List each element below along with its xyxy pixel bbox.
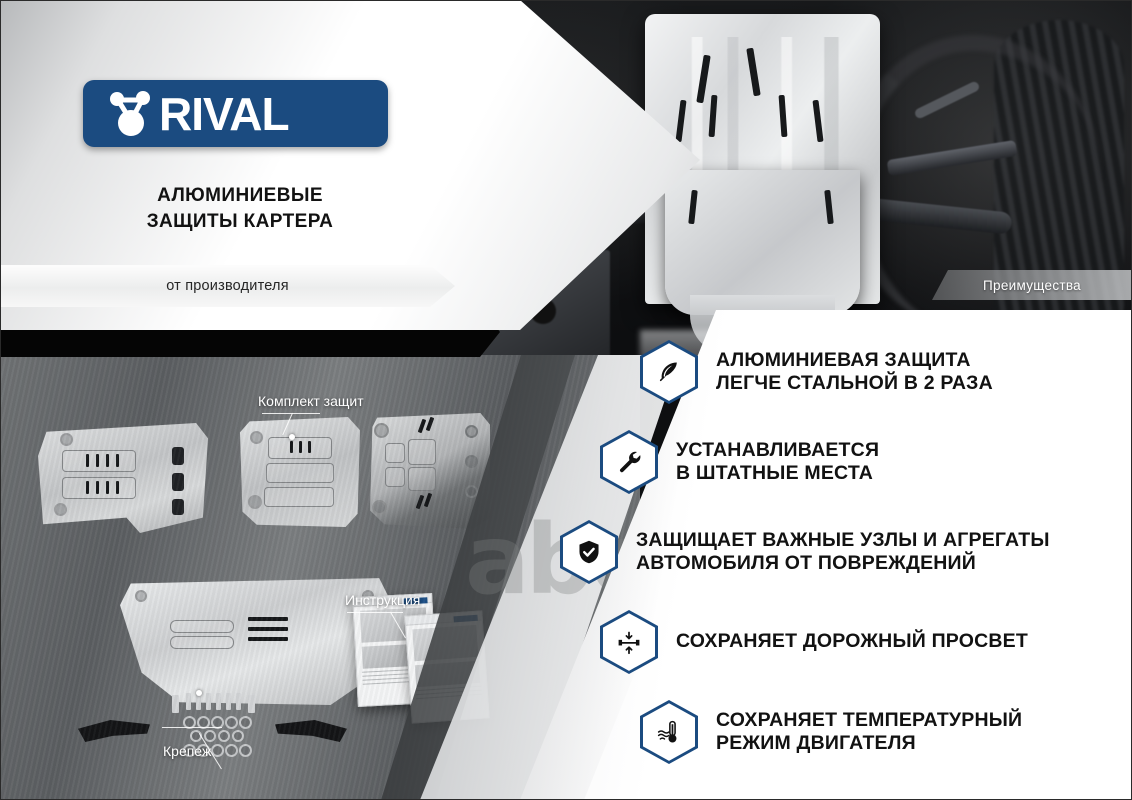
caption-marker <box>196 690 202 696</box>
plate-recess <box>62 477 136 499</box>
vent-slot <box>116 454 119 467</box>
plate-recess <box>408 467 436 491</box>
advantage-item-engine-temperature: СОХРАНЯЕТ ТЕМПЕРАТУРНЫЙ РЕЖИМ ДВИГАТЕЛЯ <box>640 700 1102 764</box>
advantage-line1: УСТАНАВЛИВАЕТСЯ <box>676 439 879 462</box>
drain-slot <box>172 473 184 491</box>
vent-slot <box>96 481 99 494</box>
page-title-line2: ЗАЩИТЫ КАРТЕРА <box>40 209 440 235</box>
advantage-text: СОХРАНЯЕТ ДОРОЖНЫЙ ПРОСВЕТ <box>676 630 1028 653</box>
washer <box>218 730 230 742</box>
advantage-line2: В ШТАТНЫЕ МЕСТА <box>676 462 879 485</box>
bolt <box>248 695 255 713</box>
vent-slot <box>426 417 435 432</box>
vent-slot <box>424 493 433 508</box>
advantage-item-factory-mounts: УСТАНАВЛИВАЕТСЯ В ШТАТНЫЕ МЕСТА <box>600 430 1102 494</box>
advantage-item-ground-clearance: СОХРАНЯЕТ ДОРОЖНЫЙ ПРОСВЕТ <box>600 610 1102 674</box>
bolt <box>236 693 241 710</box>
advantage-text: СОХРАНЯЕТ ТЕМПЕРАТУРНЫЙ РЕЖИМ ДВИГАТЕЛЯ <box>716 709 1022 756</box>
thermometer-icon <box>640 700 698 764</box>
vent-slot <box>106 481 109 494</box>
washer <box>225 716 238 729</box>
vent-slot <box>299 441 302 453</box>
plate-recess <box>408 439 436 465</box>
advantage-item-protects-components: ЗАЩИЩАЕТ ВАЖНЫЕ УЗЛЫ И АГРЕГАТЫ АВТОМОБИ… <box>560 520 1102 584</box>
shield-check-icon <box>560 520 618 584</box>
vent-slot <box>308 441 311 453</box>
promo-banner: abe RIVAL АЛЮМИНИЕВЫЕ ЗАЩИТЫ КАРТЕРА от … <box>0 0 1132 800</box>
drain-slot <box>172 499 184 515</box>
mount-eyelet <box>465 455 478 468</box>
vent-slot <box>248 627 288 631</box>
rival-logo: RIVAL <box>83 80 388 147</box>
skid-plate-4 <box>120 570 390 705</box>
advantage-item-aluminium-lighter: АЛЮМИНИЕВАЯ ЗАЩИТА ЛЕГЧЕ СТАЛЬНОЙ В 2 РА… <box>640 340 1102 404</box>
washer <box>239 744 252 757</box>
advantage-line1: ЗАЩИЩАЕТ ВАЖНЫЕ УЗЛЫ И АГРЕГАТЫ <box>636 529 1050 552</box>
tab-advantages-label: Преимущества <box>983 278 1081 293</box>
advantage-text: УСТАНАВЛИВАЕТСЯ В ШТАТНЫЕ МЕСТА <box>676 439 879 486</box>
doc-figure <box>362 643 429 668</box>
tab-advantages[interactable]: Преимущества <box>932 270 1132 300</box>
subtitle-text: от производителя <box>166 278 289 294</box>
bolt <box>186 693 191 710</box>
ground-clearance-icon <box>600 610 658 674</box>
mount-eyelet <box>372 500 387 515</box>
advantage-line1: АЛЮМИНИЕВАЯ ЗАЩИТА <box>716 349 993 372</box>
drain-slot <box>172 447 184 465</box>
skid-plate-2 <box>240 417 360 527</box>
page-title-line1: АЛЮМИНИЕВЫЕ <box>40 183 440 209</box>
advantage-line1: СОХРАНЯЕТ ДОРОЖНЫЙ ПРОСВЕТ <box>676 630 1028 653</box>
mounting-bracket-right <box>275 720 347 742</box>
page-title: АЛЮМИНИЕВЫЕ ЗАЩИТЫ КАРТЕРА <box>40 183 440 235</box>
plate-recess <box>62 450 136 472</box>
wrench-icon <box>600 430 658 494</box>
plate-recess <box>266 463 334 483</box>
advantage-line2: РЕЖИМ ДВИГАТЕЛЯ <box>716 732 1022 755</box>
doc-line <box>362 668 430 673</box>
vent-slot <box>418 419 427 434</box>
feather-icon <box>640 340 698 404</box>
plate-recess <box>264 487 334 507</box>
bolt <box>226 693 231 710</box>
advantage-line2: АВТОМОБИЛЯ ОТ ПОВРЕЖДЕНИЙ <box>636 552 1050 575</box>
plate-recess <box>385 467 405 487</box>
bolt <box>216 693 221 710</box>
skid-plate-1 <box>38 423 208 533</box>
washer <box>239 716 252 729</box>
mount-eyelet <box>465 425 478 438</box>
advantage-line2: ЛЕГЧЕ СТАЛЬНОЙ В 2 РАЗА <box>716 372 993 395</box>
mounting-bracket-left <box>78 720 150 742</box>
vent-slot <box>248 617 288 621</box>
caption-leader-line <box>347 612 403 613</box>
mount-eyelet <box>248 495 262 509</box>
vent-slot <box>106 454 109 467</box>
logo-wordmark: RIVAL <box>159 91 289 137</box>
caption-leader-line <box>162 727 222 728</box>
advantage-text: АЛЮМИНИЕВАЯ ЗАЩИТА ЛЕГЧЕ СТАЛЬНОЙ В 2 РА… <box>716 349 993 396</box>
plate-recess <box>268 437 332 459</box>
washer <box>204 730 216 742</box>
vent-slot <box>86 481 89 494</box>
subtitle-banner: от производителя <box>0 265 455 307</box>
plate-rib <box>170 620 234 633</box>
mount-eyelet <box>465 485 478 498</box>
vent-slot <box>248 637 288 641</box>
vent-slot <box>86 454 89 467</box>
mount-eyelet <box>60 433 73 446</box>
caption-marker <box>289 434 295 440</box>
advantage-text: ЗАЩИЩАЕТ ВАЖНЫЕ УЗЛЫ И АГРЕГАТЫ АВТОМОБИ… <box>636 529 1050 576</box>
vent-slot <box>96 454 99 467</box>
plate-rib <box>170 636 234 649</box>
washer <box>225 744 238 757</box>
vent-slot <box>416 495 425 510</box>
plate-recess <box>385 443 405 463</box>
caption-fasteners: Крепеж <box>163 743 211 759</box>
molecule-icon <box>101 87 163 141</box>
bolt <box>206 693 211 710</box>
bolt <box>172 695 179 713</box>
caption-kit: Комплект защит <box>258 393 364 409</box>
mount-eyelet <box>135 590 147 602</box>
mount-eyelet <box>54 503 67 516</box>
advantage-line1: СОХРАНЯЕТ ТЕМПЕРАТУРНЫЙ <box>716 709 1022 732</box>
washer <box>232 730 244 742</box>
vent-slot <box>290 441 293 453</box>
caption-instruction: Инструкция <box>345 592 420 608</box>
mount-eyelet <box>250 431 263 444</box>
mount-eyelet <box>374 423 389 438</box>
advantages-list: АЛЮМИНИЕВАЯ ЗАЩИТА ЛЕГЧЕ СТАЛЬНОЙ В 2 РА… <box>632 340 1102 790</box>
vent-slot <box>116 481 119 494</box>
